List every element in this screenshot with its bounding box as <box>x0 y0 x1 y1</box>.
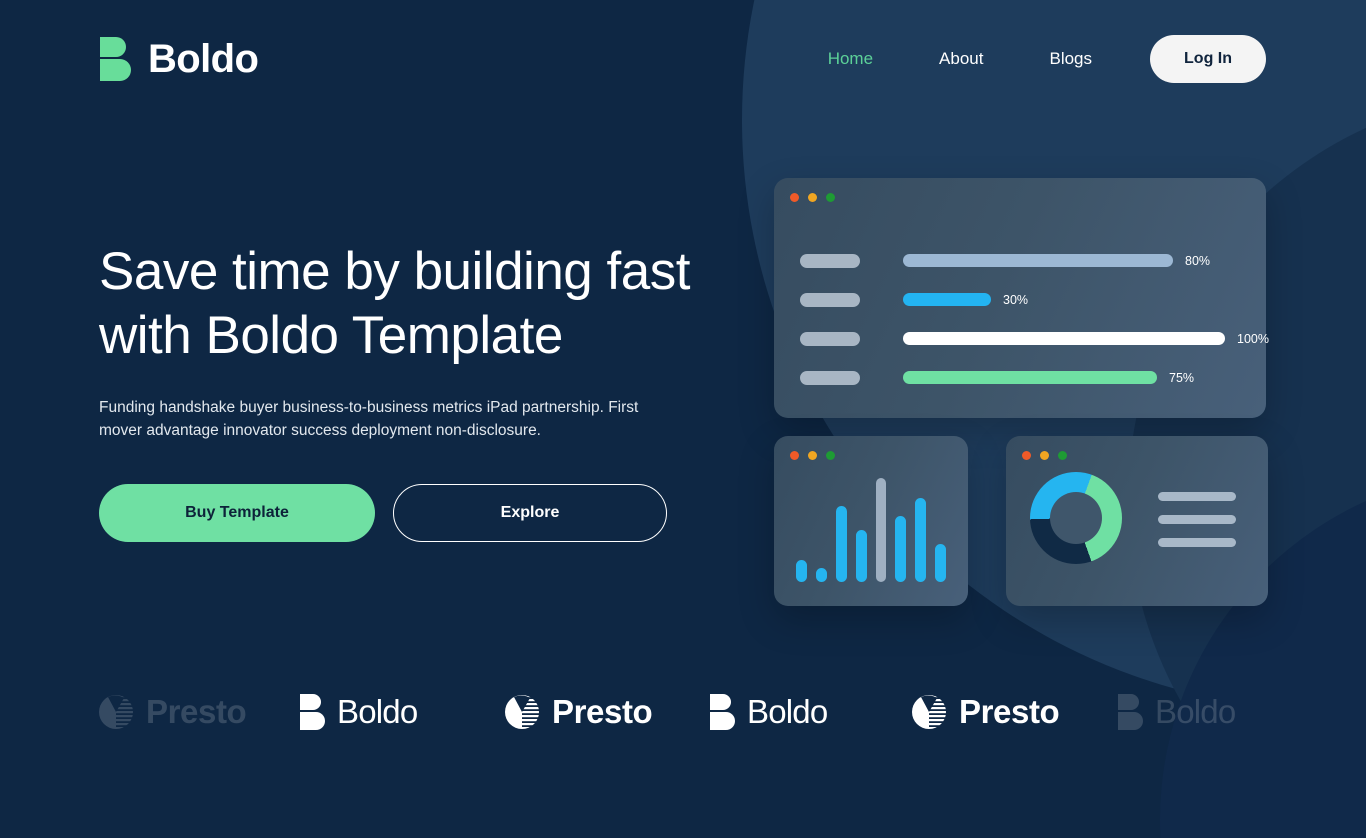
nav-item-about[interactable]: About <box>906 49 1016 69</box>
partner-logo-name: Presto <box>146 693 246 731</box>
window-dot-red-icon <box>790 193 799 202</box>
progress-percent-label: 80% <box>1185 254 1210 268</box>
landing-page: Boldo Home About Blogs Log In Save time … <box>0 0 1366 838</box>
partner-logo: Presto <box>505 693 652 731</box>
bar-chart-card <box>774 436 968 606</box>
boldo-b-logo-icon <box>710 694 734 730</box>
main-navigation: Home About Blogs Log In <box>795 35 1266 83</box>
window-dot-green-icon <box>826 451 835 460</box>
partner-logo: Boldo <box>1118 693 1235 731</box>
legend-line <box>1158 515 1236 524</box>
window-dot-yellow-icon <box>808 193 817 202</box>
hero-illustration: 80%30%100%75% <box>774 178 1268 606</box>
boldo-b-logo-icon <box>100 37 130 81</box>
progress-row: 30% <box>800 280 1246 319</box>
progress-percent-label: 75% <box>1169 371 1194 385</box>
progress-row: 80% <box>800 241 1246 280</box>
partner-logo: Presto <box>99 693 246 731</box>
hero-heading: Save time by building fast with Boldo Te… <box>99 240 719 368</box>
donut-ring <box>1030 472 1122 564</box>
donut-hole <box>1050 492 1102 544</box>
boldo-b-logo-icon <box>1118 694 1142 730</box>
window-dot-green-icon <box>826 193 835 202</box>
chart-bar <box>796 560 807 582</box>
nav-item-home[interactable]: Home <box>795 49 906 69</box>
progress-bar-fill <box>903 332 1225 345</box>
partner-logo-name: Boldo <box>747 693 827 731</box>
chart-bar <box>816 568 827 582</box>
window-dot-green-icon <box>1058 451 1067 460</box>
progress-bar-fill <box>903 371 1157 384</box>
partner-logo: Boldo <box>710 693 827 731</box>
progress-row-label <box>800 371 860 385</box>
hero-section: Save time by building fast with Boldo Te… <box>99 240 719 542</box>
donut-legend <box>1158 492 1236 547</box>
partner-logo-name: Boldo <box>1155 693 1235 731</box>
progress-row-label <box>800 332 860 346</box>
brand-name: Boldo <box>148 37 258 82</box>
progress-row: 75% <box>800 358 1246 397</box>
window-dot-red-icon <box>790 451 799 460</box>
progress-percent-label: 100% <box>1237 332 1269 346</box>
chart-bar <box>895 516 906 582</box>
bar-chart <box>796 472 946 582</box>
progress-row: 100% <box>800 319 1246 358</box>
window-dot-red-icon <box>1022 451 1031 460</box>
donut-chart <box>1030 472 1122 564</box>
window-dots <box>790 193 835 202</box>
hero-paragraph: Funding handshake buyer business-to-busi… <box>99 396 659 442</box>
site-header: Boldo Home About Blogs Log In <box>0 0 1366 118</box>
hero-heading-line1: Save time by building fast <box>99 242 690 301</box>
donut-chart-card <box>1006 436 1268 606</box>
partner-logo-name: Boldo <box>337 693 417 731</box>
chart-bar <box>876 478 887 582</box>
partner-logo-name: Presto <box>959 693 1059 731</box>
buy-template-button[interactable]: Buy Template <box>99 484 375 542</box>
presto-circle-icon <box>505 695 539 729</box>
partner-logo: Presto <box>912 693 1059 731</box>
legend-line <box>1158 492 1236 501</box>
progress-card: 80%30%100%75% <box>774 178 1266 418</box>
chart-bar <box>915 498 926 582</box>
presto-circle-icon <box>912 695 946 729</box>
progress-percent-label: 30% <box>1003 293 1028 307</box>
window-dot-yellow-icon <box>808 451 817 460</box>
lower-card-row <box>774 418 1268 606</box>
presto-circle-icon <box>99 695 133 729</box>
progress-row-label <box>800 254 860 268</box>
progress-bar-fill <box>903 254 1173 267</box>
chart-bar <box>836 506 847 582</box>
window-dots <box>790 451 835 460</box>
partner-logo: Boldo <box>300 693 417 731</box>
progress-row-list: 80%30%100%75% <box>800 241 1246 397</box>
explore-button[interactable]: Explore <box>393 484 667 542</box>
partner-logo-strip: PrestoBoldoPrestoBoldoPrestoBoldo <box>0 676 1366 748</box>
partner-logo-name: Presto <box>552 693 652 731</box>
nav-item-blogs[interactable]: Blogs <box>1016 49 1125 69</box>
progress-bar-fill <box>903 293 991 306</box>
chart-bar <box>935 544 946 582</box>
chart-bar <box>856 530 867 582</box>
boldo-b-logo-icon <box>300 694 324 730</box>
hero-cta-row: Buy Template Explore <box>99 484 719 542</box>
legend-line <box>1158 538 1236 547</box>
window-dot-yellow-icon <box>1040 451 1049 460</box>
progress-row-label <box>800 293 860 307</box>
login-button[interactable]: Log In <box>1150 35 1266 83</box>
hero-heading-line2: with Boldo Template <box>99 306 563 365</box>
window-dots <box>1022 451 1067 460</box>
brand-logo[interactable]: Boldo <box>100 37 258 82</box>
